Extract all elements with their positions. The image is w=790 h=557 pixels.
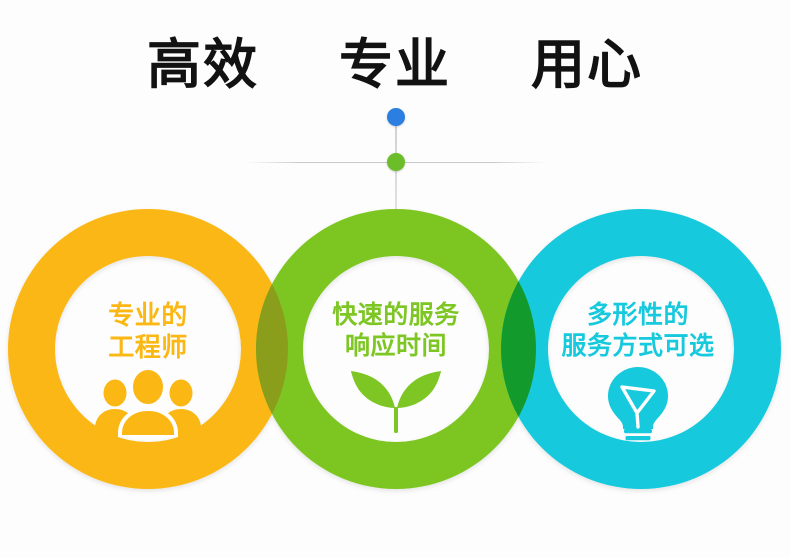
circle-3-line2: 服务方式可选 xyxy=(528,331,748,362)
page-title: 高效 专业 用心 xyxy=(0,30,790,100)
headline-word-3: 用心 xyxy=(531,30,643,100)
headline-word-2: 专业 xyxy=(339,30,451,100)
people-group-icon xyxy=(38,367,258,437)
blue-dot-icon xyxy=(387,108,405,126)
circle-content-flexible: 多形性的 服务方式可选 xyxy=(528,300,748,443)
green-dot-icon xyxy=(387,153,405,171)
poster-canvas: 高效 专业 用心 xyxy=(0,0,790,557)
circle-3-line1: 多形性的 xyxy=(528,300,748,331)
headline-word-1: 高效 xyxy=(147,30,259,100)
circle-1-line1: 专业的 xyxy=(38,300,258,332)
circle-2-line1: 快速的服务 xyxy=(286,300,506,331)
circle-content-response: 快速的服务 响应时间 xyxy=(286,300,506,433)
circle-1-line2: 工程师 xyxy=(38,332,258,364)
lightbulb-icon xyxy=(528,365,748,443)
circle-content-engineers: 专业的 工程师 xyxy=(38,300,258,437)
sprout-leaf-icon xyxy=(286,365,506,433)
circle-2-line2: 响应时间 xyxy=(286,331,506,362)
